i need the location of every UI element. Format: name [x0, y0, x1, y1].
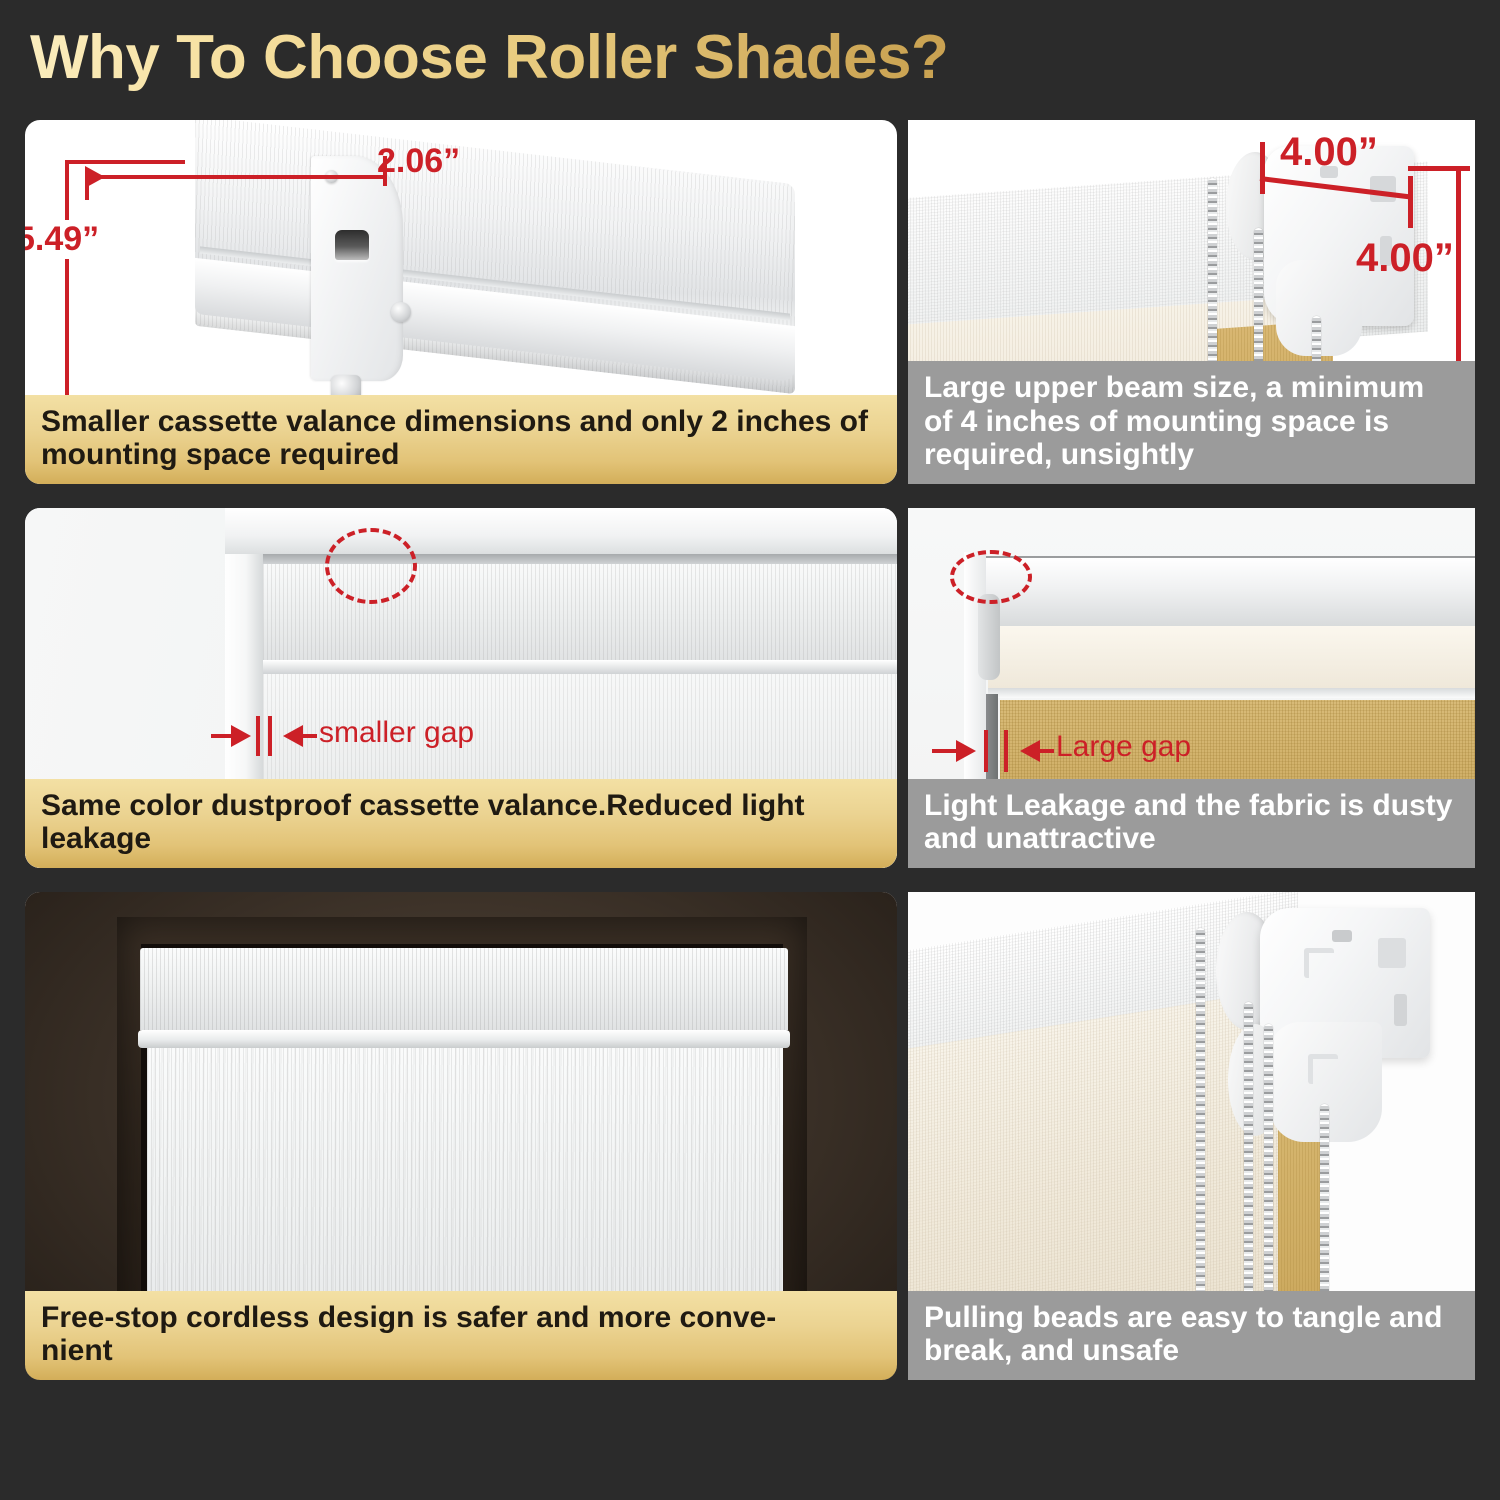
panel-6-caption: Pulling beads are easy to tangle and bre…	[908, 1291, 1475, 1380]
gap-tick-right	[268, 716, 272, 756]
highlight-circle	[325, 528, 417, 604]
gap-arrow-right-tail-2	[1040, 749, 1054, 753]
bracket-slot-3	[1394, 994, 1407, 1026]
bracket-slot-1	[1378, 938, 1406, 968]
gap-arrow-right-2	[1020, 740, 1040, 762]
width-dim-bar	[85, 175, 385, 179]
gap-arrow-left-tail-2	[932, 749, 958, 753]
gap-tick-left	[256, 716, 260, 756]
endcap-slot	[335, 230, 369, 260]
height-dim-label: 5.49”	[25, 220, 102, 259]
infographic-page: Why To Choose Roller Shades? 2.06” 5.49”…	[0, 0, 1500, 1500]
valance-lip-line	[263, 660, 897, 674]
bracket-slot-2	[1332, 930, 1352, 942]
panel-4-caption: Light Leakage and the fabric is dusty an…	[908, 779, 1475, 868]
large-gap-label: Large gap	[1056, 730, 1191, 764]
gap-arrow-left-tail	[211, 734, 233, 738]
bracket-arrow-icon-top	[1304, 948, 1334, 978]
valance-bottom-edge	[988, 688, 1475, 698]
shade-fabric-main	[147, 1048, 783, 1328]
width-dim-arrow	[85, 166, 105, 188]
gap-arrow-left-2	[956, 740, 976, 762]
smaller-gap-label: smaller gap	[319, 716, 474, 750]
gap-arrow-left	[231, 725, 251, 747]
height-dim-label-2: 4.00”	[1356, 236, 1454, 281]
height-dim-tick-top	[65, 160, 185, 164]
roller-mechanism	[978, 594, 1000, 680]
endcap-screw-middle	[391, 302, 411, 322]
panel-light-leakage: Large gap Light Leakage and the fabric i…	[908, 508, 1475, 868]
gap-tick-right-2	[1004, 730, 1008, 772]
gap-arrow-right-tail	[303, 734, 317, 738]
panel-5-caption-line2: nient	[41, 1334, 881, 1368]
gap-tick-left-2	[984, 730, 988, 772]
width-dim-tick-left	[1260, 142, 1265, 194]
panel-5-caption: Free-stop cordless design is safer and m…	[25, 1291, 897, 1380]
panel-smaller-cassette: 2.06” 5.49” Smaller cassette valance dim…	[25, 120, 897, 484]
page-title: Why To Choose Roller Shades?	[30, 20, 1130, 96]
bracket-arrow-icon-bottom	[1308, 1054, 1338, 1084]
width-dim-label: 2.06”	[377, 142, 460, 181]
width-dim-tick-right	[1408, 176, 1413, 228]
valance-endcap	[311, 156, 403, 381]
cream-valance	[988, 626, 1475, 688]
shade-cassette	[140, 948, 788, 1030]
upper-rail	[976, 558, 1475, 634]
panel-dustproof-valance: smaller gap Same color dustproof cassett…	[25, 508, 897, 868]
panel-5-caption-line1: Free-stop cordless design is safer and m…	[41, 1301, 881, 1335]
width-dim-label-2: 4.00”	[1280, 130, 1378, 175]
panel-large-upper-beam: 4.00” 4.00” Large upper beam size, a min…	[908, 120, 1475, 484]
gap-arrow-right	[283, 725, 303, 747]
height-dim-tick-top-2	[1408, 166, 1470, 171]
shade-lip	[138, 1030, 790, 1048]
window-head-casing	[225, 508, 897, 554]
highlight-ellipse	[950, 550, 1032, 604]
panel-cordless-design: Free-stop cordless design is safer and m…	[25, 892, 897, 1380]
panel-1-caption: Smaller cassette valance dimensions and …	[25, 395, 897, 484]
panel-3-caption: Same color dustproof cassette valance.Re…	[25, 779, 897, 868]
panel-pulling-beads: Pulling beads are easy to tangle and bre…	[908, 892, 1475, 1380]
panel-2-caption: Large upper beam size, a minimum of 4 in…	[908, 361, 1475, 484]
